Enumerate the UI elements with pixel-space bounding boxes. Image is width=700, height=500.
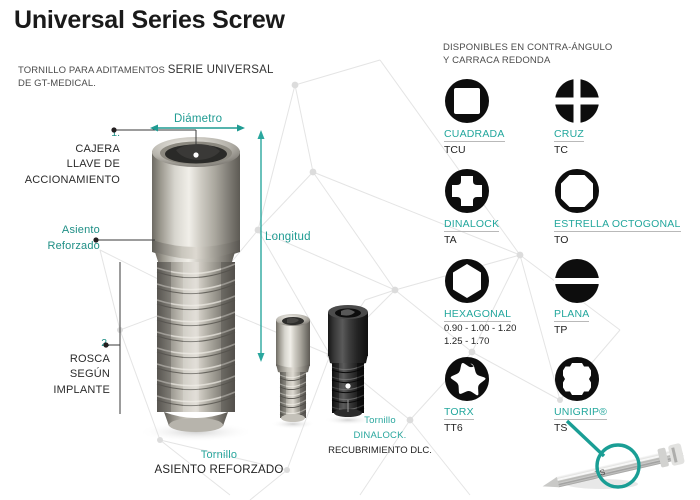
screwdriver-tool: TS [540,418,700,500]
poster-canvas: Universal Series Screw TORNILLO PARA ADI… [0,0,700,500]
tool-tip-pointer-line [567,421,604,456]
